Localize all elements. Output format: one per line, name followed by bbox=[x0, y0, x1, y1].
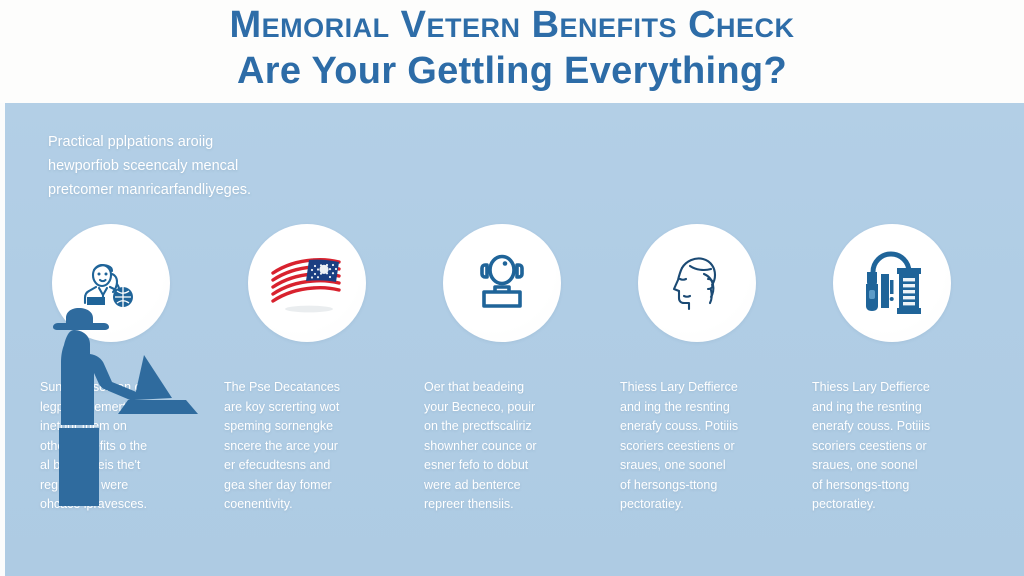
column-text-5: Thiess Lary Deffierce and ing the resnti… bbox=[812, 378, 980, 515]
title-block: Memorial Vetern Benefits Check Are Your … bbox=[0, 2, 1024, 94]
header-band: Memorial Vetern Benefits Check Are Your … bbox=[0, 0, 1024, 103]
head-profile-icon bbox=[660, 246, 734, 320]
icon-badge-medical-equipment bbox=[833, 224, 951, 342]
american-flag-icon bbox=[265, 247, 349, 319]
icon-badge-head-profile bbox=[638, 224, 756, 342]
column-text-4: Thiess Lary Deffierce and ing the resnti… bbox=[620, 378, 788, 515]
column-text-1: Sunieton sereen of legpiby aremertious i… bbox=[40, 378, 208, 515]
icon-badge-support-agent bbox=[443, 224, 561, 342]
left-edge-strip bbox=[0, 103, 5, 576]
icon-badge-veteran-service-rep bbox=[52, 224, 170, 342]
page-title-line-1: Memorial Vetern Benefits Check bbox=[0, 2, 1024, 48]
icon-badge-american-flag bbox=[248, 224, 366, 342]
medical-equipment-icon bbox=[853, 246, 931, 320]
headset-support-agent-icon bbox=[467, 248, 537, 318]
column-text-2: The Pse Decatances are koy screrting wot… bbox=[224, 378, 392, 515]
veteran-service-rep-icon bbox=[73, 245, 149, 321]
infographic-poster: Memorial Vetern Benefits Check Are Your … bbox=[0, 0, 1024, 576]
column-text-3: Oer that beadeing your Becneco, pouir on… bbox=[424, 378, 592, 515]
page-title-line-2: Are Your Gettling Everything? bbox=[0, 48, 1024, 94]
intro-paragraph: Practical pplpations aroiig hewporfiob s… bbox=[48, 130, 378, 202]
